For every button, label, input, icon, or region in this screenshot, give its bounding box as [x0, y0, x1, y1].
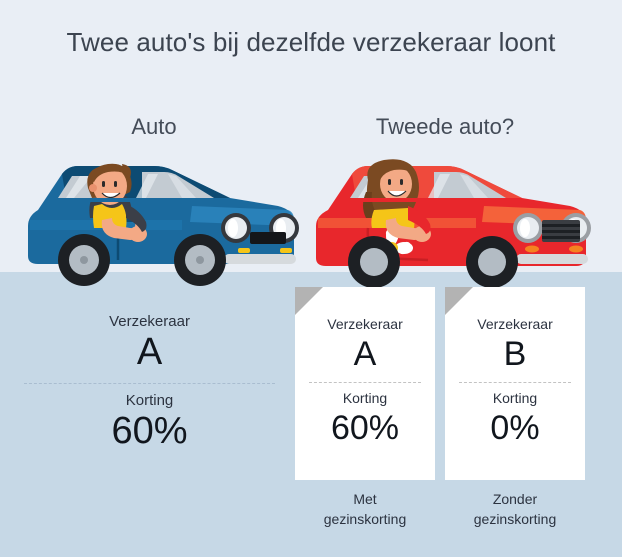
caption-1-line-2: gezinskorting: [295, 509, 435, 529]
card-b-divider: [459, 382, 571, 383]
card-b-body: Verzekeraar B Korting 0%: [445, 315, 585, 448]
card-a-insurer-label: Verzekeraar: [295, 315, 435, 334]
card-a-discount-value: 60%: [295, 408, 435, 448]
left-insurer-value: A: [12, 330, 287, 374]
card-a-divider: [309, 382, 421, 383]
column-heading-left: Auto: [24, 114, 284, 140]
left-stats-panel: Verzekeraar A Korting 60%: [12, 312, 287, 453]
card-b-insurer-value: B: [445, 334, 585, 374]
card-b-discount-label: Korting: [445, 389, 585, 408]
card-b-insurer-label: Verzekeraar: [445, 315, 585, 334]
left-discount-label: Korting: [12, 391, 287, 411]
column-heading-right: Tweede auto?: [300, 114, 590, 140]
card-a-insurer-value: A: [295, 334, 435, 374]
caption-1-line-1: Met: [295, 489, 435, 509]
card-a-discount-label: Korting: [295, 389, 435, 408]
left-panel-divider: [24, 383, 275, 384]
folded-corner-icon: [445, 287, 473, 315]
left-insurer-label: Verzekeraar: [12, 312, 287, 332]
folded-corner-icon: [295, 287, 323, 315]
blue-car-illustration: [22, 148, 302, 288]
caption-2-line-1: Zonder: [445, 489, 585, 509]
caption-without-family-discount: Zonder gezinskorting: [445, 489, 585, 529]
page-title: Twee auto's bij dezelfde verzekeraar loo…: [0, 27, 622, 58]
insurer-card-a[interactable]: Verzekeraar A Korting 60%: [295, 287, 435, 480]
infographic-root: Twee auto's bij dezelfde verzekeraar loo…: [0, 0, 622, 557]
red-car-illustration: [308, 148, 598, 290]
left-discount-value: 60%: [12, 409, 287, 453]
caption-with-family-discount: Met gezinskorting: [295, 489, 435, 529]
insurer-card-b[interactable]: Verzekeraar B Korting 0%: [445, 287, 585, 480]
card-b-discount-value: 0%: [445, 408, 585, 448]
caption-2-line-2: gezinskorting: [445, 509, 585, 529]
card-a-body: Verzekeraar A Korting 60%: [295, 315, 435, 448]
